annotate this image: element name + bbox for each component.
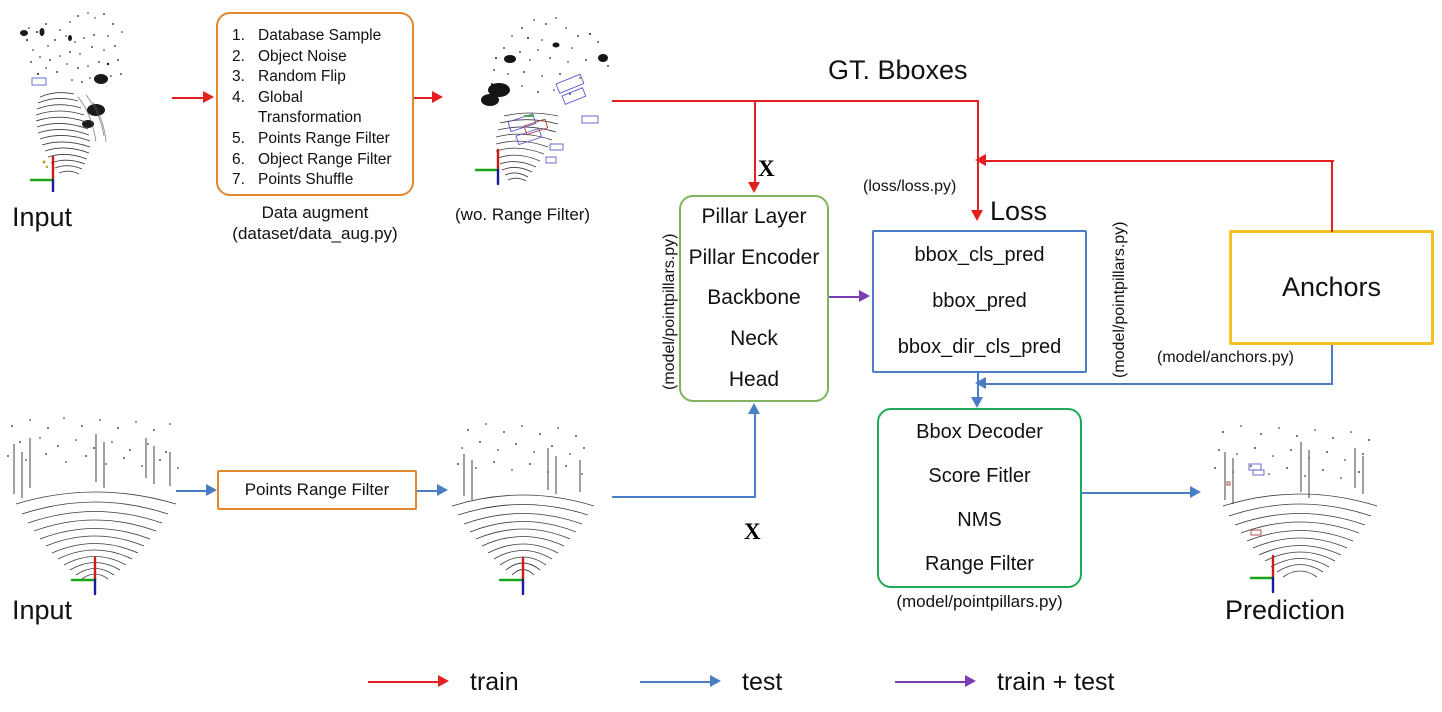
arrowhead-decoder-to-prediction <box>1190 486 1201 498</box>
data-augment-caption-line2: (dataset/data_aug.py) <box>206 224 424 244</box>
label-x-bottom: X <box>744 518 761 545</box>
label-prediction: Prediction <box>1225 595 1345 627</box>
pillar-item-backbone: Backbone <box>707 286 800 310</box>
legend-test: test <box>640 668 782 697</box>
legend-test-label: test <box>742 668 782 697</box>
arrowhead-input2-to-filter <box>206 484 217 496</box>
label-wo-range-filter: (wo. Range Filter) <box>455 205 590 225</box>
arrowhead-input-to-augment <box>203 91 214 103</box>
augment-step: 5.Points Range Filter <box>232 129 406 150</box>
arrow-input-to-augment <box>172 97 204 99</box>
loss-source-note: (loss/loss.py) <box>863 178 956 197</box>
loss-title: Loss <box>990 196 1047 228</box>
pillar-item-head: Head <box>729 368 779 392</box>
augment-step: 2.Object Noise <box>232 47 406 68</box>
augment-step: 4.Global Transformation <box>232 88 406 129</box>
arrow-decoder-to-prediction <box>1082 492 1192 494</box>
pillar-module-box[interactable]: Pillar Layer Pillar Encoder Backbone Nec… <box>679 195 829 402</box>
pillar-item-pillar-encoder: Pillar Encoder <box>689 246 820 270</box>
legend-train: train <box>368 668 519 697</box>
arrowhead-red-to-pillar <box>748 182 760 193</box>
arrowhead-anchors-to-loss <box>975 154 986 166</box>
legend-test-swatch <box>640 681 720 684</box>
points-range-filter-label: Points Range Filter <box>219 472 415 508</box>
legend-train-test-label: train + test <box>997 668 1114 697</box>
prediction-head-items: bbox_cls_pred bbox_pred bbox_dir_cls_pre… <box>874 232 1085 371</box>
blue-branch-up-to-pillar <box>754 414 756 498</box>
arrow-pillar-to-pred <box>829 296 861 298</box>
red-anchors-down <box>1331 160 1333 232</box>
pillar-item-pillar-layer: Pillar Layer <box>701 205 806 229</box>
arrowhead-pillar-to-pred <box>859 290 870 302</box>
anchors-title: Anchors <box>1232 233 1431 342</box>
arrowhead-red-to-loss <box>971 210 983 221</box>
point-cloud-input-bottom <box>0 408 190 598</box>
blue-anchors-down <box>1331 345 1333 383</box>
red-anchors-to-loss-horizontal <box>982 160 1334 162</box>
arrow-input2-to-filter <box>176 490 208 492</box>
arrowhead-filter-to-cloud <box>437 484 448 496</box>
anchors-source-note: (model/anchors.py) <box>1157 349 1294 368</box>
pred-item-bbox-cls-pred: bbox_cls_pred <box>914 244 1044 267</box>
point-cloud-filtered <box>428 408 618 598</box>
red-bus-horizontal <box>612 100 978 102</box>
augment-step: 3.Random Flip <box>232 67 406 88</box>
postprocess-box[interactable]: Bbox Decoder Score Fitler NMS Range Filt… <box>877 408 1082 588</box>
label-input-bottom: Input <box>12 595 72 627</box>
label-input-top: Input <box>12 202 72 234</box>
postprocess-item-nms: NMS <box>957 509 1001 532</box>
postprocess-source-note: (model/pointpillars.py) <box>877 592 1082 612</box>
points-range-filter-box[interactable]: Points Range Filter <box>217 470 417 510</box>
arrowhead-pred-to-decoder <box>971 397 983 408</box>
augment-step: 7.Points Shuffle <box>232 170 406 191</box>
postprocess-items: Bbox Decoder Score Fitler NMS Range Filt… <box>879 410 1080 586</box>
arrowhead-blue-to-pillar <box>748 403 760 414</box>
legend-train-test: train + test <box>895 668 1114 697</box>
point-cloud-input-top <box>0 2 190 192</box>
point-cloud-augmented <box>438 12 628 202</box>
label-x-top: X <box>758 155 775 182</box>
label-gt-bboxes: GT. Bboxes <box>828 55 968 87</box>
postprocess-item-bbox-decoder: Bbox Decoder <box>916 421 1043 444</box>
augment-step-list: 1.Database Sample 2.Object Noise 3.Rando… <box>232 26 406 191</box>
legend-train-swatch <box>368 681 448 684</box>
legend-train-test-swatch <box>895 681 975 684</box>
pillar-module-source-note: (model/pointpillars.py) <box>661 233 680 390</box>
arrowhead-augment-to-cloud <box>432 91 443 103</box>
blue-anchors-to-decoder-horizontal <box>982 383 1333 385</box>
prediction-head-box[interactable]: bbox_cls_pred bbox_pred bbox_dir_cls_pre… <box>872 230 1087 373</box>
postprocess-item-range-filter: Range Filter <box>925 553 1034 576</box>
pred-item-bbox-dir-cls-pred: bbox_dir_cls_pred <box>898 336 1061 359</box>
point-cloud-prediction <box>1205 408 1395 598</box>
anchors-box[interactable]: Anchors <box>1229 230 1434 345</box>
pillar-module-items: Pillar Layer Pillar Encoder Backbone Nec… <box>681 197 827 400</box>
postprocess-item-score-filter: Score Fitler <box>928 465 1030 488</box>
blue-bus-bottom <box>612 496 756 498</box>
red-branch-to-pillar <box>754 100 756 184</box>
data-augment-caption-line1: Data augment <box>216 203 414 223</box>
augment-step: 1.Database Sample <box>232 26 406 47</box>
diagram-canvas: Input Input Prediction (wo. Range Filter… <box>0 0 1442 712</box>
pred-item-bbox-pred: bbox_pred <box>932 290 1027 313</box>
legend-train-label: train <box>470 668 519 697</box>
data-augment-box[interactable]: 1.Database Sample 2.Object Noise 3.Rando… <box>216 12 414 196</box>
prediction-head-source-note: (model/pointpillars.py) <box>1111 221 1130 378</box>
augment-step: 6.Object Range Filter <box>232 150 406 171</box>
pillar-item-neck: Neck <box>730 327 778 351</box>
